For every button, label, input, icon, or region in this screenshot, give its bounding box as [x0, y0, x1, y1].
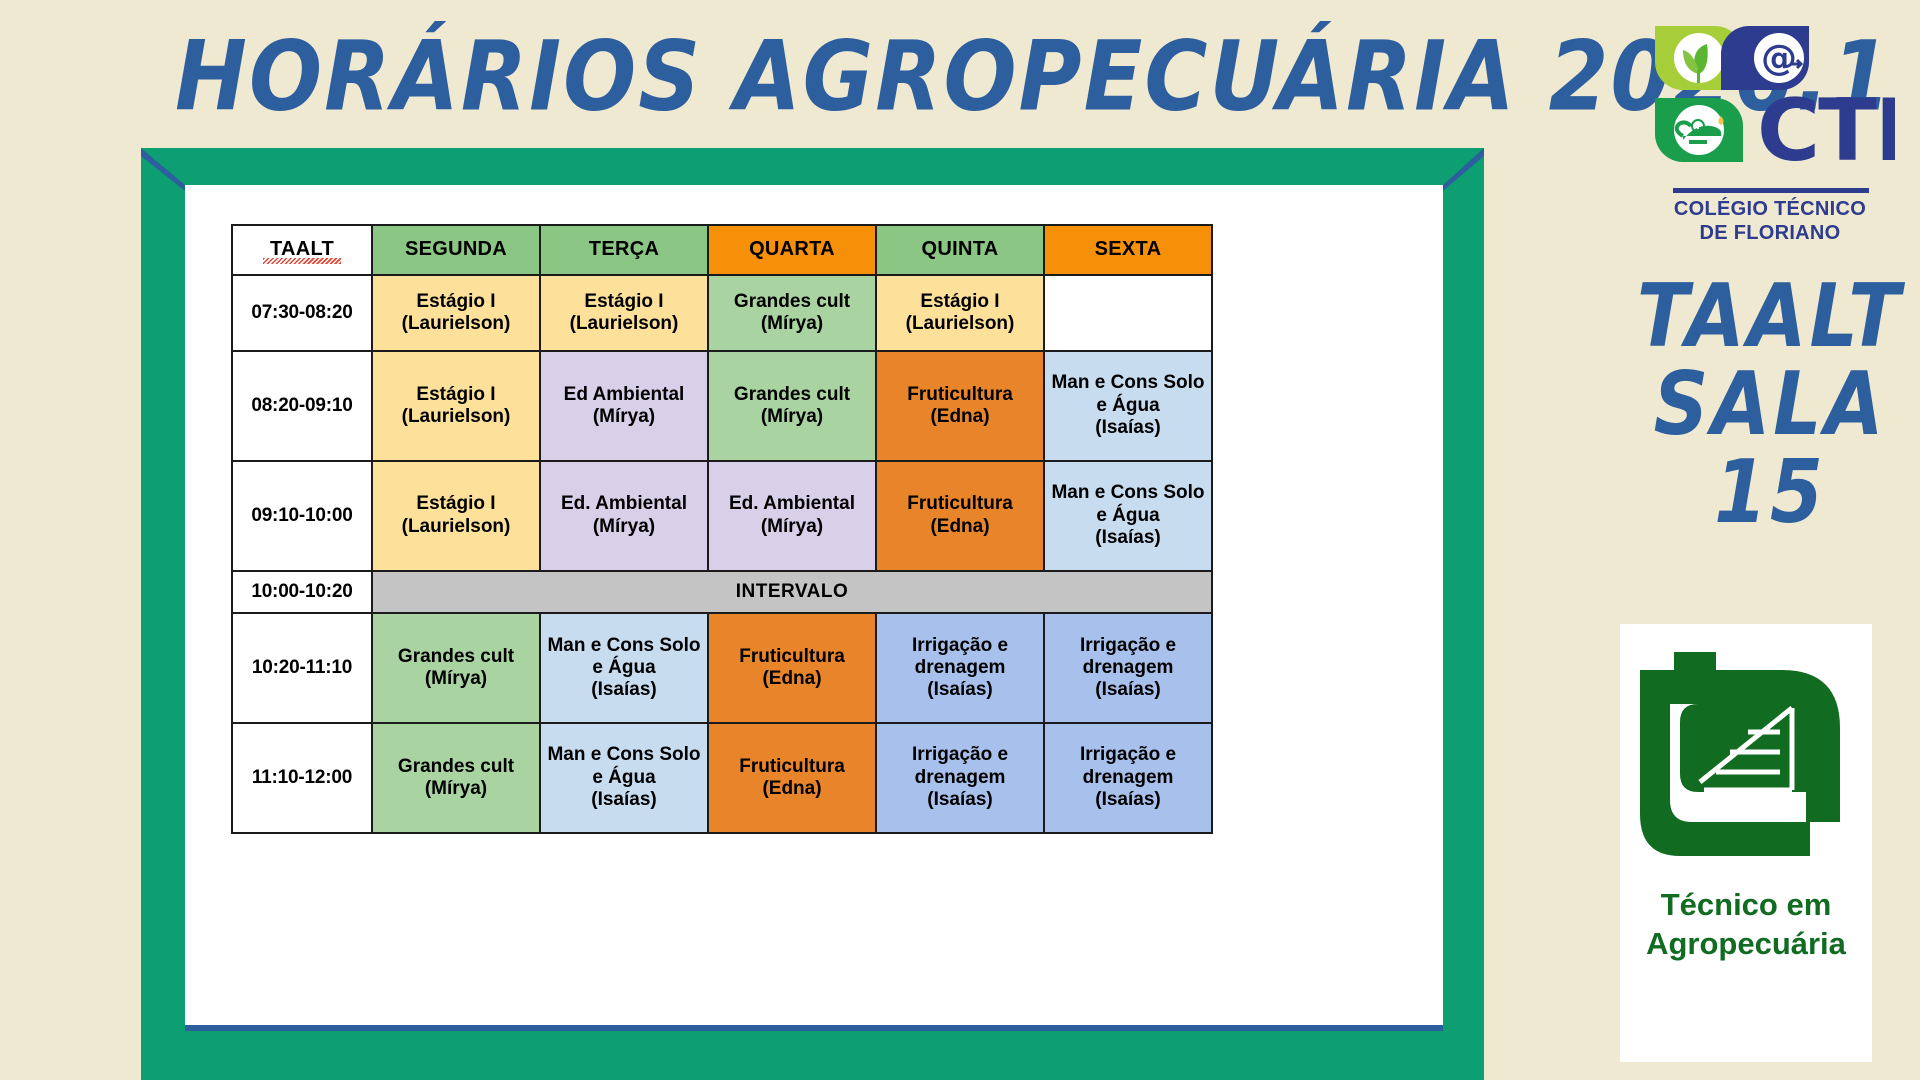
header-cell-terca: TERÇA: [540, 225, 708, 275]
class-cell: Estágio I(Laurielson): [540, 275, 708, 351]
time-slot-cell: 07:30-08:20: [232, 275, 372, 351]
class-cell: Irrigação e drenagem(Isaías): [1044, 613, 1212, 723]
class-cell: Man e Cons Solo e Água(Isaías): [1044, 461, 1212, 571]
class-cell: Estágio I(Laurielson): [372, 275, 540, 351]
time-slot-cell: 10:20-11:10: [232, 613, 372, 723]
time-slot-cell: 08:20-09:10: [232, 351, 372, 461]
class-cell: Ed. Ambiental(Mírya): [708, 461, 876, 571]
course-logo: Técnico em Agropecuária: [1620, 624, 1872, 1062]
class-cell: Man e Cons Solo e Água(Isaías): [540, 613, 708, 723]
header-cell-segunda: SEGUNDA: [372, 225, 540, 275]
class-subject: Grandes cult: [376, 756, 536, 778]
class-cell: Grandes cult(Mírya): [372, 613, 540, 723]
class-subject: Fruticultura: [712, 756, 872, 778]
poster-root: HORÁRIOS AGROPECUÁRIA 2026.1 TAALT: [0, 0, 1920, 1080]
class-cell: Estágio I(Laurielson): [876, 275, 1044, 351]
class-teacher: (Mírya): [544, 406, 704, 428]
class-subject: Man e Cons Solo e Água: [1048, 372, 1208, 417]
table-header-row: TAALT SEGUNDA TERÇA QUARTA QUINTA SEXTA: [232, 225, 1212, 275]
table-row: 09:10-10:00Estágio I(Laurielson)Ed. Ambi…: [232, 461, 1212, 571]
time-slot-cell: 10:00-10:20: [232, 571, 372, 614]
class-teacher: (Mírya): [544, 516, 704, 538]
header-cell-taalt: TAALT: [232, 225, 372, 275]
class-subject: Estágio I: [880, 291, 1040, 313]
table-row: 08:20-09:10Estágio I(Laurielson)Ed Ambie…: [232, 351, 1212, 461]
class-cell: Man e Cons Solo e Água(Isaías): [1044, 351, 1212, 461]
class-cell: Ed Ambiental(Mírya): [540, 351, 708, 461]
class-cell: Estágio I(Laurielson): [372, 351, 540, 461]
header-cell-quarta: QUARTA: [708, 225, 876, 275]
class-subject: Irrigação e drenagem: [1048, 744, 1208, 789]
class-cell: Fruticultura(Edna): [876, 461, 1044, 571]
class-teacher: (Edna): [712, 778, 872, 800]
class-teacher: (Isaías): [1048, 789, 1208, 811]
table-row: 07:30-08:20Estágio I(Laurielson)Estágio …: [232, 275, 1212, 351]
class-cell: Grandes cult(Mírya): [708, 275, 876, 351]
class-cell: Grandes cult(Mírya): [372, 723, 540, 833]
class-teacher: (Isaías): [544, 679, 704, 701]
class-subject: Man e Cons Solo e Água: [1048, 482, 1208, 527]
schedule-table: TAALT SEGUNDA TERÇA QUARTA QUINTA SEXTA …: [231, 224, 1213, 834]
course-logo-line1: Técnico em: [1620, 886, 1872, 925]
room-line-number: 15: [1620, 441, 1920, 542]
class-subject: Irrigação e drenagem: [880, 635, 1040, 680]
svg-text:@: @: [1761, 38, 1797, 79]
class-subject: Grandes cult: [376, 646, 536, 668]
class-subject: Estágio I: [544, 291, 704, 313]
ctf-subtitle: COLÉGIO TÉCNICO DE FLORIANO: [1645, 198, 1895, 245]
time-slot-cell: 11:10-12:00: [232, 723, 372, 833]
class-cell: Grandes cult(Mírya): [708, 351, 876, 461]
table-row: 10:00-10:20INTERVALO: [232, 571, 1212, 614]
leaf-monogram-icon: [1630, 630, 1862, 880]
class-cell: Irrigação e drenagem(Isaías): [876, 723, 1044, 833]
course-logo-text: Técnico em Agropecuária: [1620, 886, 1872, 964]
class-teacher: (Mírya): [712, 516, 872, 538]
class-teacher: (Isaías): [1048, 417, 1208, 439]
class-teacher: (Isaías): [544, 789, 704, 811]
class-subject: Ed. Ambiental: [544, 493, 704, 515]
class-teacher: (Laurielson): [376, 313, 536, 335]
class-cell: Estágio I(Laurielson): [372, 461, 540, 571]
class-subject: Grandes cult: [712, 384, 872, 406]
course-logo-line2: Agropecuária: [1620, 925, 1872, 964]
ctf-divider: [1673, 188, 1869, 193]
ctf-logo: @ CTF COLÉGIO TÉCNICO DE FLORIANO: [1645, 18, 1895, 263]
class-subject: Fruticultura: [880, 493, 1040, 515]
schedule-table-container: TAALT SEGUNDA TERÇA QUARTA QUINTA SEXTA …: [231, 224, 1213, 834]
class-teacher: (Mírya): [376, 778, 536, 800]
page-title: HORÁRIOS AGROPECUÁRIA 2026.1: [175, 15, 1335, 138]
class-teacher: (Edna): [712, 668, 872, 690]
class-subject: Estágio I: [376, 493, 536, 515]
table-row: 11:10-12:00Grandes cult(Mírya)Man e Cons…: [232, 723, 1212, 833]
class-subject: Fruticultura: [712, 646, 872, 668]
class-subject: Man e Cons Solo e Água: [544, 744, 704, 789]
class-teacher: (Laurielson): [376, 406, 536, 428]
class-teacher: (Isaías): [1048, 679, 1208, 701]
class-teacher: (Laurielson): [880, 313, 1040, 335]
class-subject: Ed Ambiental: [544, 384, 704, 406]
header-cell-quinta: QUINTA: [876, 225, 1044, 275]
header-label: TAALT: [270, 238, 334, 260]
class-subject: Estágio I: [376, 291, 536, 313]
time-slot-cell: 09:10-10:00: [232, 461, 372, 571]
break-cell: INTERVALO: [372, 571, 1212, 614]
room-info: TAALT SALA 15: [1620, 272, 1920, 536]
class-subject: Man e Cons Solo e Água: [544, 635, 704, 680]
ctf-emblem-icon: @ CTF: [1645, 18, 1895, 173]
empty-cell: [1044, 275, 1212, 351]
class-cell: Ed. Ambiental(Mírya): [540, 461, 708, 571]
table-row: 10:20-11:10Grandes cult(Mírya)Man e Cons…: [232, 613, 1212, 723]
class-teacher: (Isaías): [880, 679, 1040, 701]
class-subject: Fruticultura: [880, 384, 1040, 406]
class-cell: Fruticultura(Edna): [708, 613, 876, 723]
class-teacher: (Mírya): [712, 313, 872, 335]
spellcheck-squiggle-icon: [263, 258, 341, 264]
class-cell: Fruticultura(Edna): [708, 723, 876, 833]
ctf-subtitle-line1: COLÉGIO TÉCNICO: [1645, 198, 1895, 222]
class-teacher: (Mírya): [712, 406, 872, 428]
class-teacher: (Edna): [880, 406, 1040, 428]
ctf-subtitle-line2: DE FLORIANO: [1645, 222, 1895, 246]
header-cell-sexta: SEXTA: [1044, 225, 1212, 275]
class-teacher: (Isaías): [880, 789, 1040, 811]
class-teacher: (Laurielson): [376, 516, 536, 538]
class-teacher: (Laurielson): [544, 313, 704, 335]
class-cell: Man e Cons Solo e Água(Isaías): [540, 723, 708, 833]
class-teacher: (Isaías): [1048, 527, 1208, 549]
class-subject: Irrigação e drenagem: [880, 744, 1040, 789]
class-cell: Irrigação e drenagem(Isaías): [876, 613, 1044, 723]
class-subject: Estágio I: [376, 384, 536, 406]
class-teacher: (Mírya): [376, 668, 536, 690]
class-subject: Grandes cult: [712, 291, 872, 313]
schedule-table-body: 07:30-08:20Estágio I(Laurielson)Estágio …: [232, 275, 1212, 833]
class-cell: Fruticultura(Edna): [876, 351, 1044, 461]
class-subject: Ed. Ambiental: [712, 493, 872, 515]
svg-text:CTF: CTF: [1757, 81, 1895, 173]
class-subject: Irrigação e drenagem: [1048, 635, 1208, 680]
class-cell: Irrigação e drenagem(Isaías): [1044, 723, 1212, 833]
class-teacher: (Edna): [880, 516, 1040, 538]
